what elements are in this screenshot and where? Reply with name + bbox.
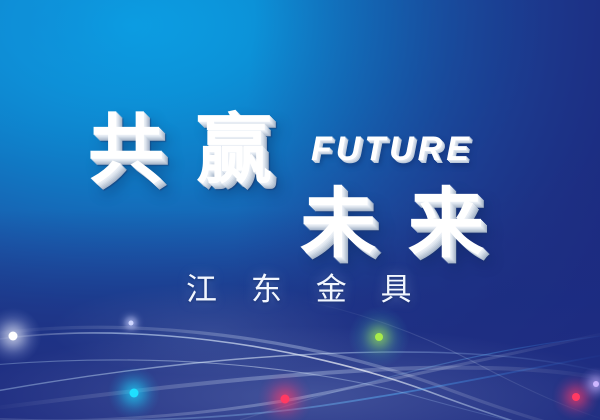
glow-red-right: [258, 372, 312, 420]
glow-violet-right: [579, 367, 600, 401]
glow-white-left: [0, 308, 41, 364]
glow-cyan-mid: [108, 367, 160, 419]
glow-green-mid: [349, 307, 409, 367]
top-left-light-wash: [0, 0, 340, 220]
glow-cyan-mid-core: [130, 389, 139, 398]
promo-banner: 共 赢 未 来 FUTURE 江 东 金 具: [0, 0, 600, 420]
headline-char-gong: 共: [88, 112, 164, 188]
company-name-subtitle: 江 东 金 具: [186, 275, 424, 306]
headline-char-lai: 来: [408, 186, 484, 262]
headline-english-future: FUTURE: [311, 132, 473, 166]
world-map-dot-fill: [0, 0, 600, 300]
glow-violet-top-core: [129, 321, 134, 326]
light-streaks: [0, 0, 600, 420]
headline-group: 共 赢 未 来 FUTURE 江 东 金 具: [0, 0, 600, 420]
headline-char-ying: 赢: [196, 112, 272, 188]
glow-green-mid-core: [375, 333, 383, 341]
glow-violet-right-core: [593, 381, 599, 387]
glow-red-far: [553, 374, 599, 420]
glow-violet-top: [123, 315, 139, 331]
right-edge-shade: [0, 0, 600, 420]
glow-red-right-core: [281, 395, 290, 404]
bottom-shade: [0, 210, 600, 420]
dotted-world-map: [0, 0, 600, 300]
glow-white-left-core: [9, 332, 18, 341]
headline-char-wei: 未: [300, 186, 376, 262]
glow-red-far-core: [572, 393, 580, 401]
